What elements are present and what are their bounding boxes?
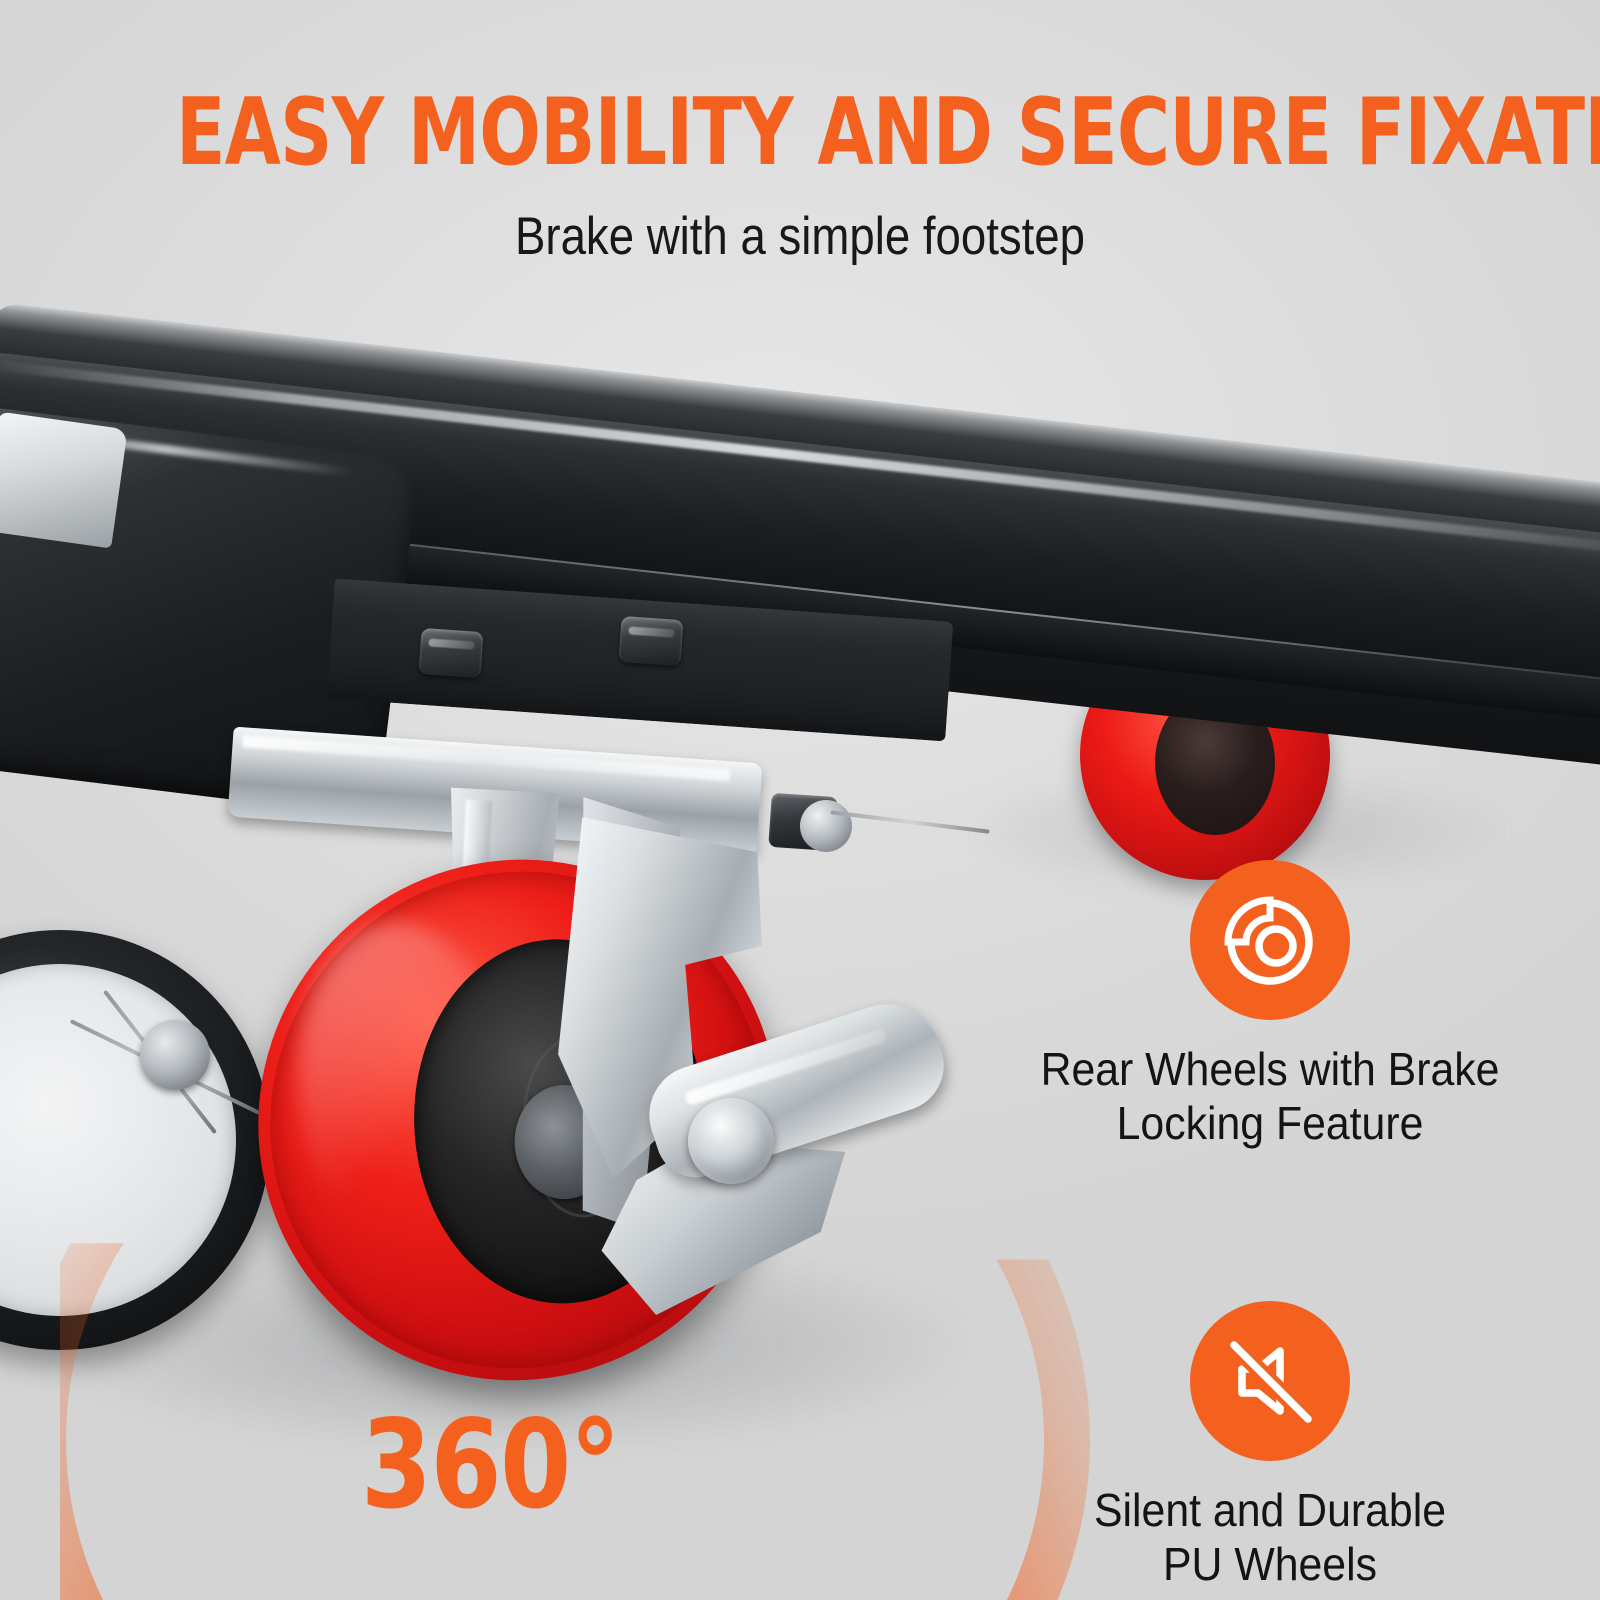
brake-disc-icon — [1218, 888, 1322, 992]
feature-list: Rear Wheels with Brake Locking Feature S… — [960, 860, 1580, 1591]
frame-corner-cap — [0, 412, 128, 549]
hex-bolt — [418, 628, 483, 678]
muted-speaker-icon — [1218, 1329, 1322, 1433]
muted-speaker-badge — [1190, 1301, 1350, 1461]
feature-label-line-1: Silent and Durable — [982, 1483, 1559, 1537]
axle-bolt — [140, 1020, 210, 1090]
feature-label-line-2: PU Wheels — [982, 1537, 1559, 1591]
feature-label-line-2: Locking Feature — [982, 1096, 1559, 1150]
feature-item-brake-lock: Rear Wheels with Brake Locking Feature — [960, 860, 1580, 1151]
frame-bolt-head — [800, 800, 852, 852]
feature-label-brake-lock: Rear Wheels with Brake Locking Feature — [982, 1042, 1559, 1151]
brake-disc-badge — [1190, 860, 1350, 1020]
page-subtitle: Brake with a simple footstep — [112, 208, 1488, 266]
feature-label-line-1: Rear Wheels with Brake — [982, 1042, 1559, 1096]
feature-label-silent-wheels: Silent and Durable PU Wheels — [982, 1483, 1559, 1592]
brake-pivot-bolt — [688, 1098, 774, 1184]
feature-item-silent-wheels: Silent and Durable PU Wheels — [960, 1301, 1580, 1592]
hex-bolt — [618, 616, 683, 666]
page-title: EASY MOBILITY AND SECURE FIXATION — [176, 86, 1424, 179]
cotter-pin-wire — [830, 810, 989, 833]
rotation-degree-label: 360° — [356, 1404, 625, 1526]
product-feature-banner: EASY MOBILITY AND SECURE FIXATION Brake … — [0, 0, 1600, 1600]
